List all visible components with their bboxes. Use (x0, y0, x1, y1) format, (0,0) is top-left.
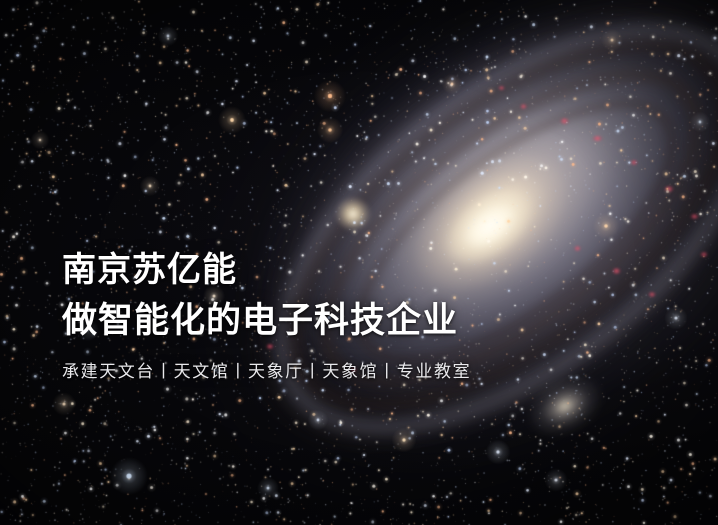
hero-copy: 南京苏亿能 做智能化的电子科技企业 承建天文台丨天文馆丨天象厅丨天象馆丨专业教室 (62, 248, 662, 384)
hii-region (498, 86, 505, 90)
hii-region (690, 214, 699, 219)
hii-region (700, 252, 708, 257)
hero-subtitle: 承建天文台丨天文馆丨天象厅丨天象馆丨专业教室 (62, 360, 662, 384)
hero-banner: 南京苏亿能 做智能化的电子科技企业 承建天文台丨天文馆丨天象厅丨天象馆丨专业教室 (0, 0, 718, 525)
hii-region (520, 104, 527, 109)
hii-region (664, 186, 674, 192)
hero-headline-line2: 做智能化的电子科技企业 (62, 296, 662, 346)
hero-headline-line1: 南京苏亿能 (62, 248, 662, 292)
hii-region (630, 160, 638, 165)
satellite-galaxy-m32 (336, 198, 370, 230)
hii-region (592, 136, 603, 141)
hii-region (560, 118, 569, 124)
